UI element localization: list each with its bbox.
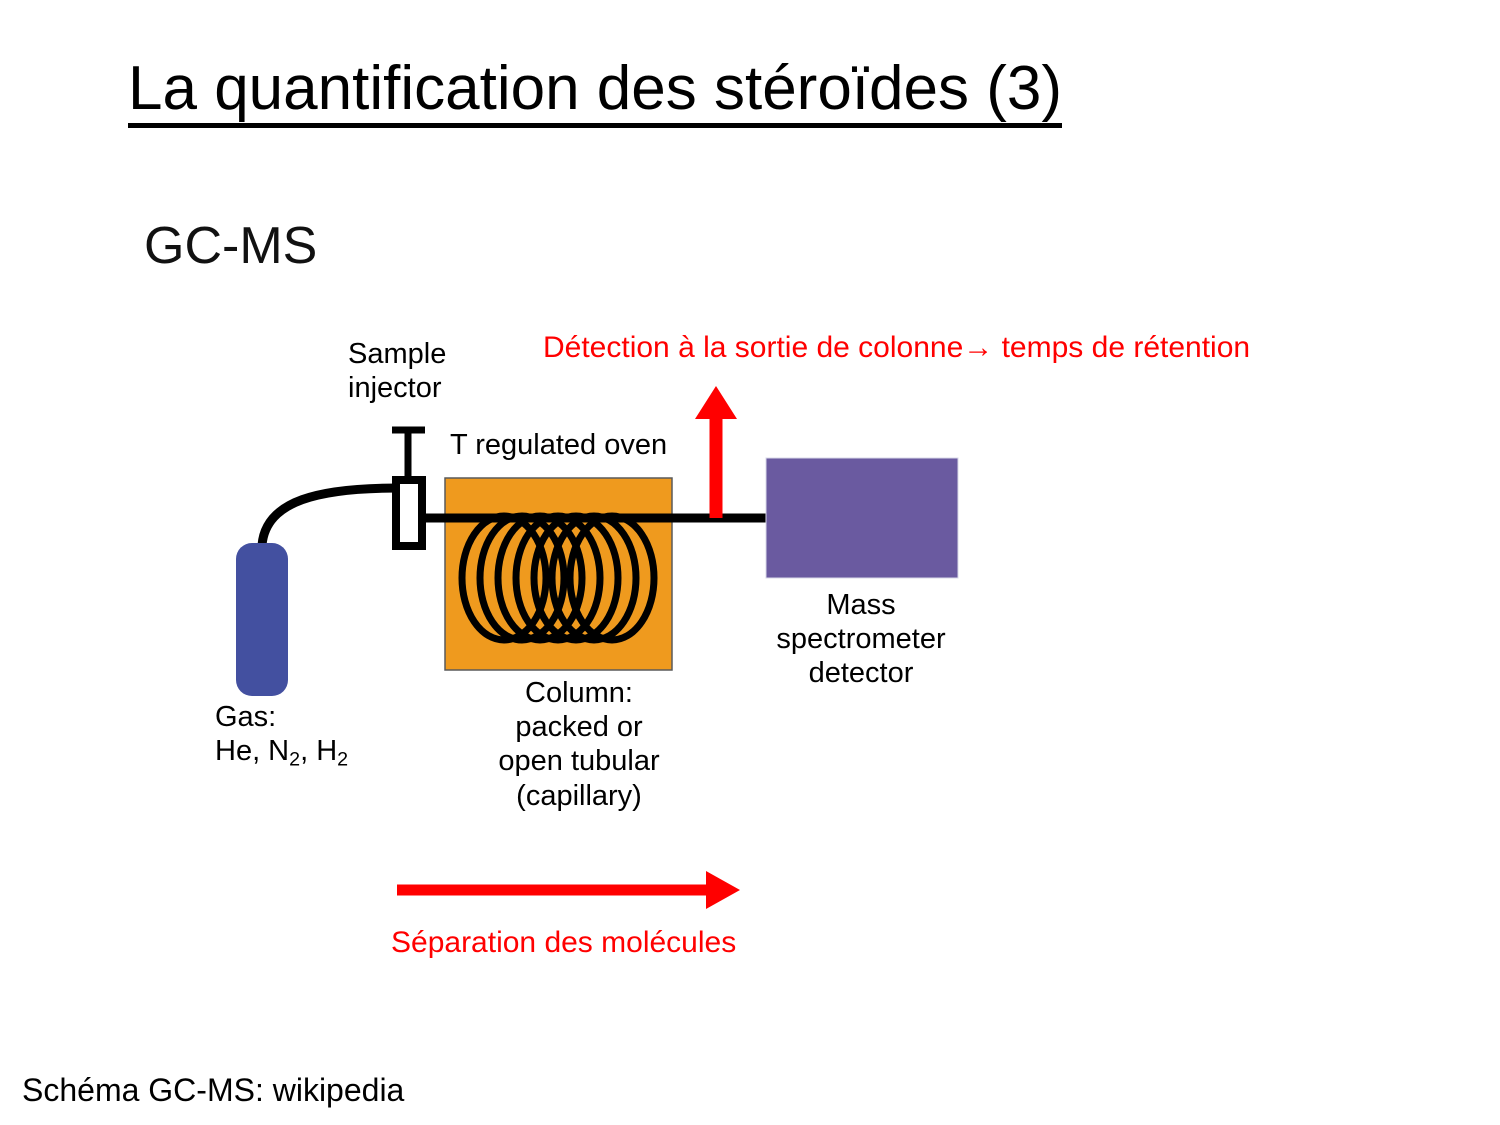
label-column-line2: packed or (515, 711, 642, 743)
separation-right-arrow-icon (397, 871, 740, 909)
label-column-line4: (capillary) (516, 780, 642, 812)
label-t-regulated-oven: T regulated oven (450, 428, 667, 462)
label-ms-line2: spectrometer (776, 623, 945, 655)
gas-cylinder-tubing (262, 488, 398, 545)
label-column-line3: open tubular (498, 745, 659, 777)
label-sample-injector-line2: injector (348, 372, 442, 404)
label-sample-injector-line1: Sample (348, 338, 446, 370)
label-gas-sub-n2: 2 (289, 749, 300, 771)
label-mass-spectrometer-detector: Mass spectrometer detector (742, 588, 980, 691)
label-column: Column: packed or open tubular (capillar… (440, 676, 718, 813)
label-gas: Gas: He, N2, H2 (215, 700, 348, 772)
label-gas-line2: He, N2, H2 (215, 735, 348, 767)
label-gas-prefix: He, N (215, 735, 289, 767)
label-gas-sub-h2: 2 (337, 749, 348, 771)
label-gas-mid: , H (300, 735, 337, 767)
gas-cylinder (236, 543, 288, 696)
slide-canvas: La quantification des stéroïdes (3) GC-M… (0, 0, 1500, 1125)
label-sample-injector: Sample injector (348, 337, 446, 405)
mass-spectrometer-detector-box (766, 458, 958, 578)
gc-ms-schematic: Sample injector T regulated oven Gas: He… (0, 0, 1500, 1125)
label-column-line1: Column: (525, 677, 633, 709)
gc-ms-schematic-svg (0, 0, 1500, 1125)
label-gas-line1: Gas: (215, 701, 276, 733)
footer-source-note: Schéma GC-MS: wikipedia (22, 1072, 404, 1109)
label-ms-line1: Mass (826, 589, 895, 621)
sample-injector-body (396, 480, 422, 546)
detection-up-arrow-icon (695, 386, 737, 518)
label-ms-line3: detector (809, 657, 914, 689)
